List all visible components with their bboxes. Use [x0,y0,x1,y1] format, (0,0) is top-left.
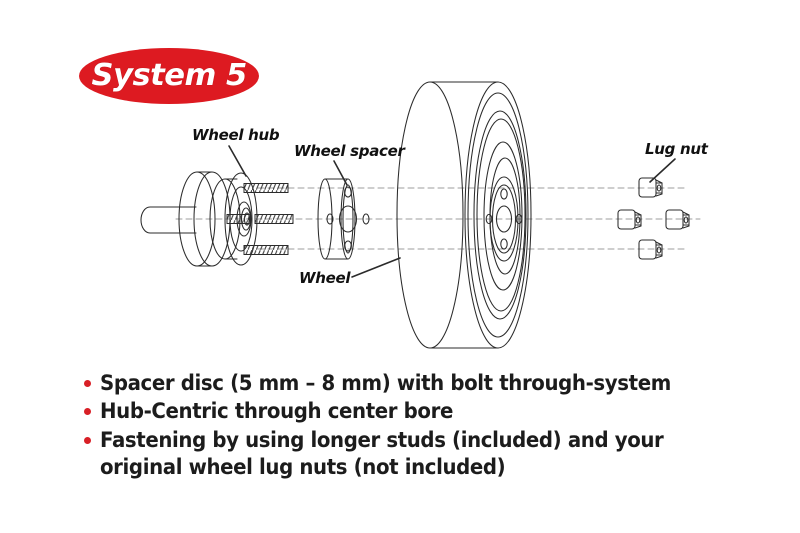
list-item-label: Spacer disc (5 mm – 8 mm) with bolt thro… [100,370,671,397]
leader-wheel-hub [229,146,246,176]
list-item-label: Fastening by using longer studs (include… [100,427,743,482]
label-wheel: Wheel [299,269,350,287]
leader-line-group [229,146,675,277]
list-item: Spacer disc (5 mm – 8 mm) with bolt thro… [84,370,784,397]
list-item-label: Hub-Centric through center bore [100,398,453,425]
leader-wheel-spacer [334,161,347,185]
wheel [397,82,531,348]
bullet-dot-icon [84,437,91,444]
label-wheel-hub: Wheel hub [192,126,279,144]
leader-lug-nut [650,159,675,182]
list-item: Hub-Centric through center bore [84,398,784,425]
bullet-dot-icon [84,408,91,415]
leader-wheel [352,258,400,277]
label-lug-nut: Lug nut [645,140,708,158]
axle-shaft [141,207,196,233]
diagram-page: System 5 [0,0,800,533]
list-item: Fastening by using longer studs (include… [84,427,784,482]
feature-list: Spacer disc (5 mm – 8 mm) with bolt thro… [84,370,784,482]
label-wheel-spacer: Wheel spacer [294,142,405,160]
bullet-dot-icon [84,380,91,387]
